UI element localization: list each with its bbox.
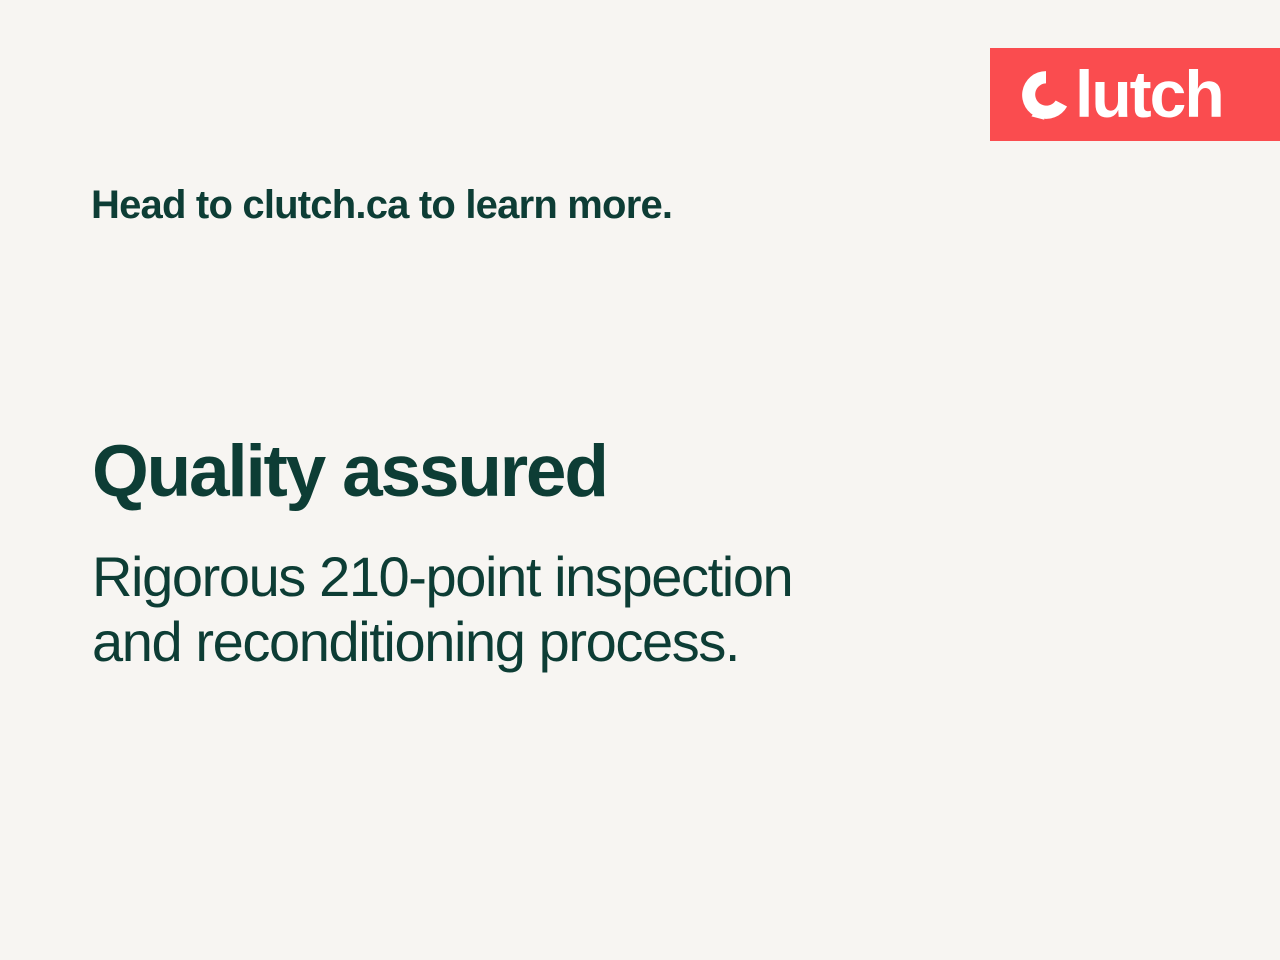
promo-slide: lutch Head to clutch.ca to learn more. Q…: [0, 0, 1280, 960]
eyebrow-text: Head to clutch.ca to learn more.: [91, 182, 672, 228]
clutch-wordmark: lutch: [1020, 67, 1223, 121]
subcopy-line-1: Rigorous 210-point inspection: [92, 545, 792, 610]
clutch-wordmark-text: lutch: [1075, 67, 1223, 121]
clutch-logo-block[interactable]: lutch: [990, 48, 1280, 141]
clutch-c-icon: [1020, 69, 1072, 121]
subcopy: Rigorous 210-point inspection and recond…: [92, 545, 792, 675]
page-title: Quality assured: [92, 435, 607, 509]
subcopy-line-2: and reconditioning process.: [92, 610, 792, 675]
